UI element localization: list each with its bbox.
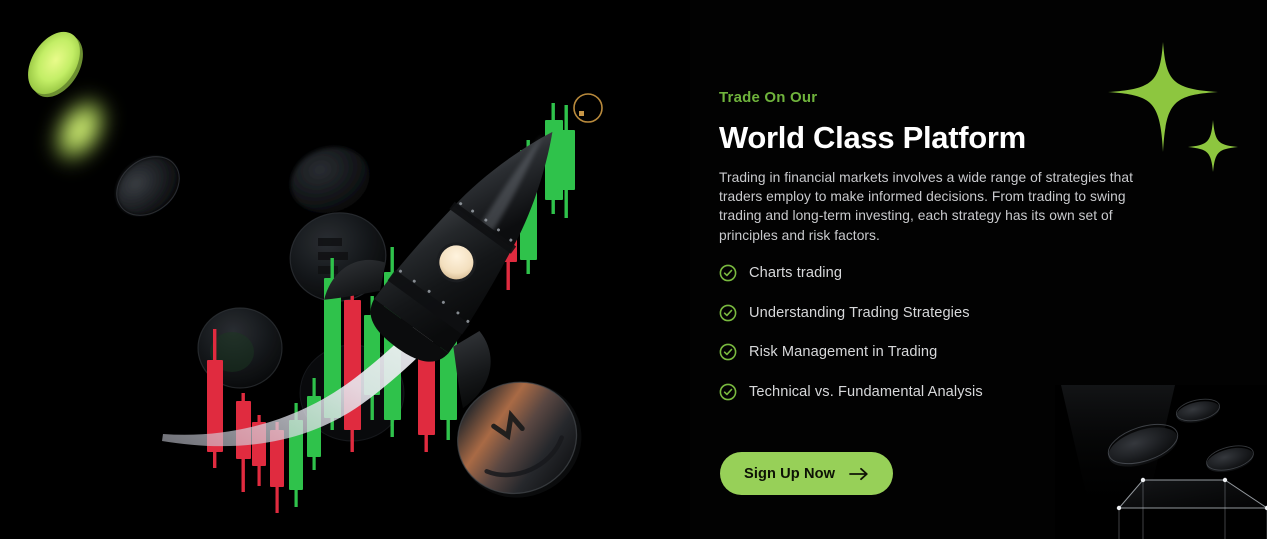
- list-item: Charts trading: [719, 262, 1149, 284]
- check-circle-icon: [719, 343, 737, 361]
- rocket-candlestick-illustration: [0, 0, 690, 539]
- sign-up-button[interactable]: Sign Up Now: [720, 452, 893, 495]
- check-circle-icon: [719, 264, 737, 282]
- list-item: Understanding Trading Strategies: [719, 302, 1149, 324]
- feature-label: Understanding Trading Strategies: [749, 303, 970, 323]
- hero-section: Trade On Our World Class Platform Tradin…: [0, 0, 1267, 539]
- feature-label: Risk Management in Trading: [749, 342, 937, 362]
- eyebrow-text: Trade On Our: [719, 88, 817, 108]
- four-point-star-icon: [1188, 120, 1238, 172]
- list-item: Technical vs. Fundamental Analysis: [719, 381, 1149, 403]
- check-circle-icon: [719, 304, 737, 322]
- hero-content: Trade On Our World Class Platform Tradin…: [719, 0, 1189, 539]
- check-circle-icon: [719, 383, 737, 401]
- page-title: World Class Platform: [719, 118, 1026, 158]
- feature-list: Charts trading Understanding Trading Str…: [719, 262, 1149, 420]
- feature-label: Charts trading: [749, 263, 842, 283]
- sign-up-label: Sign Up Now: [744, 466, 835, 482]
- hero-description: Trading in financial markets involves a …: [719, 168, 1137, 245]
- list-item: Risk Management in Trading: [719, 341, 1149, 363]
- feature-label: Technical vs. Fundamental Analysis: [749, 382, 983, 402]
- arrow-right-icon: [849, 467, 869, 481]
